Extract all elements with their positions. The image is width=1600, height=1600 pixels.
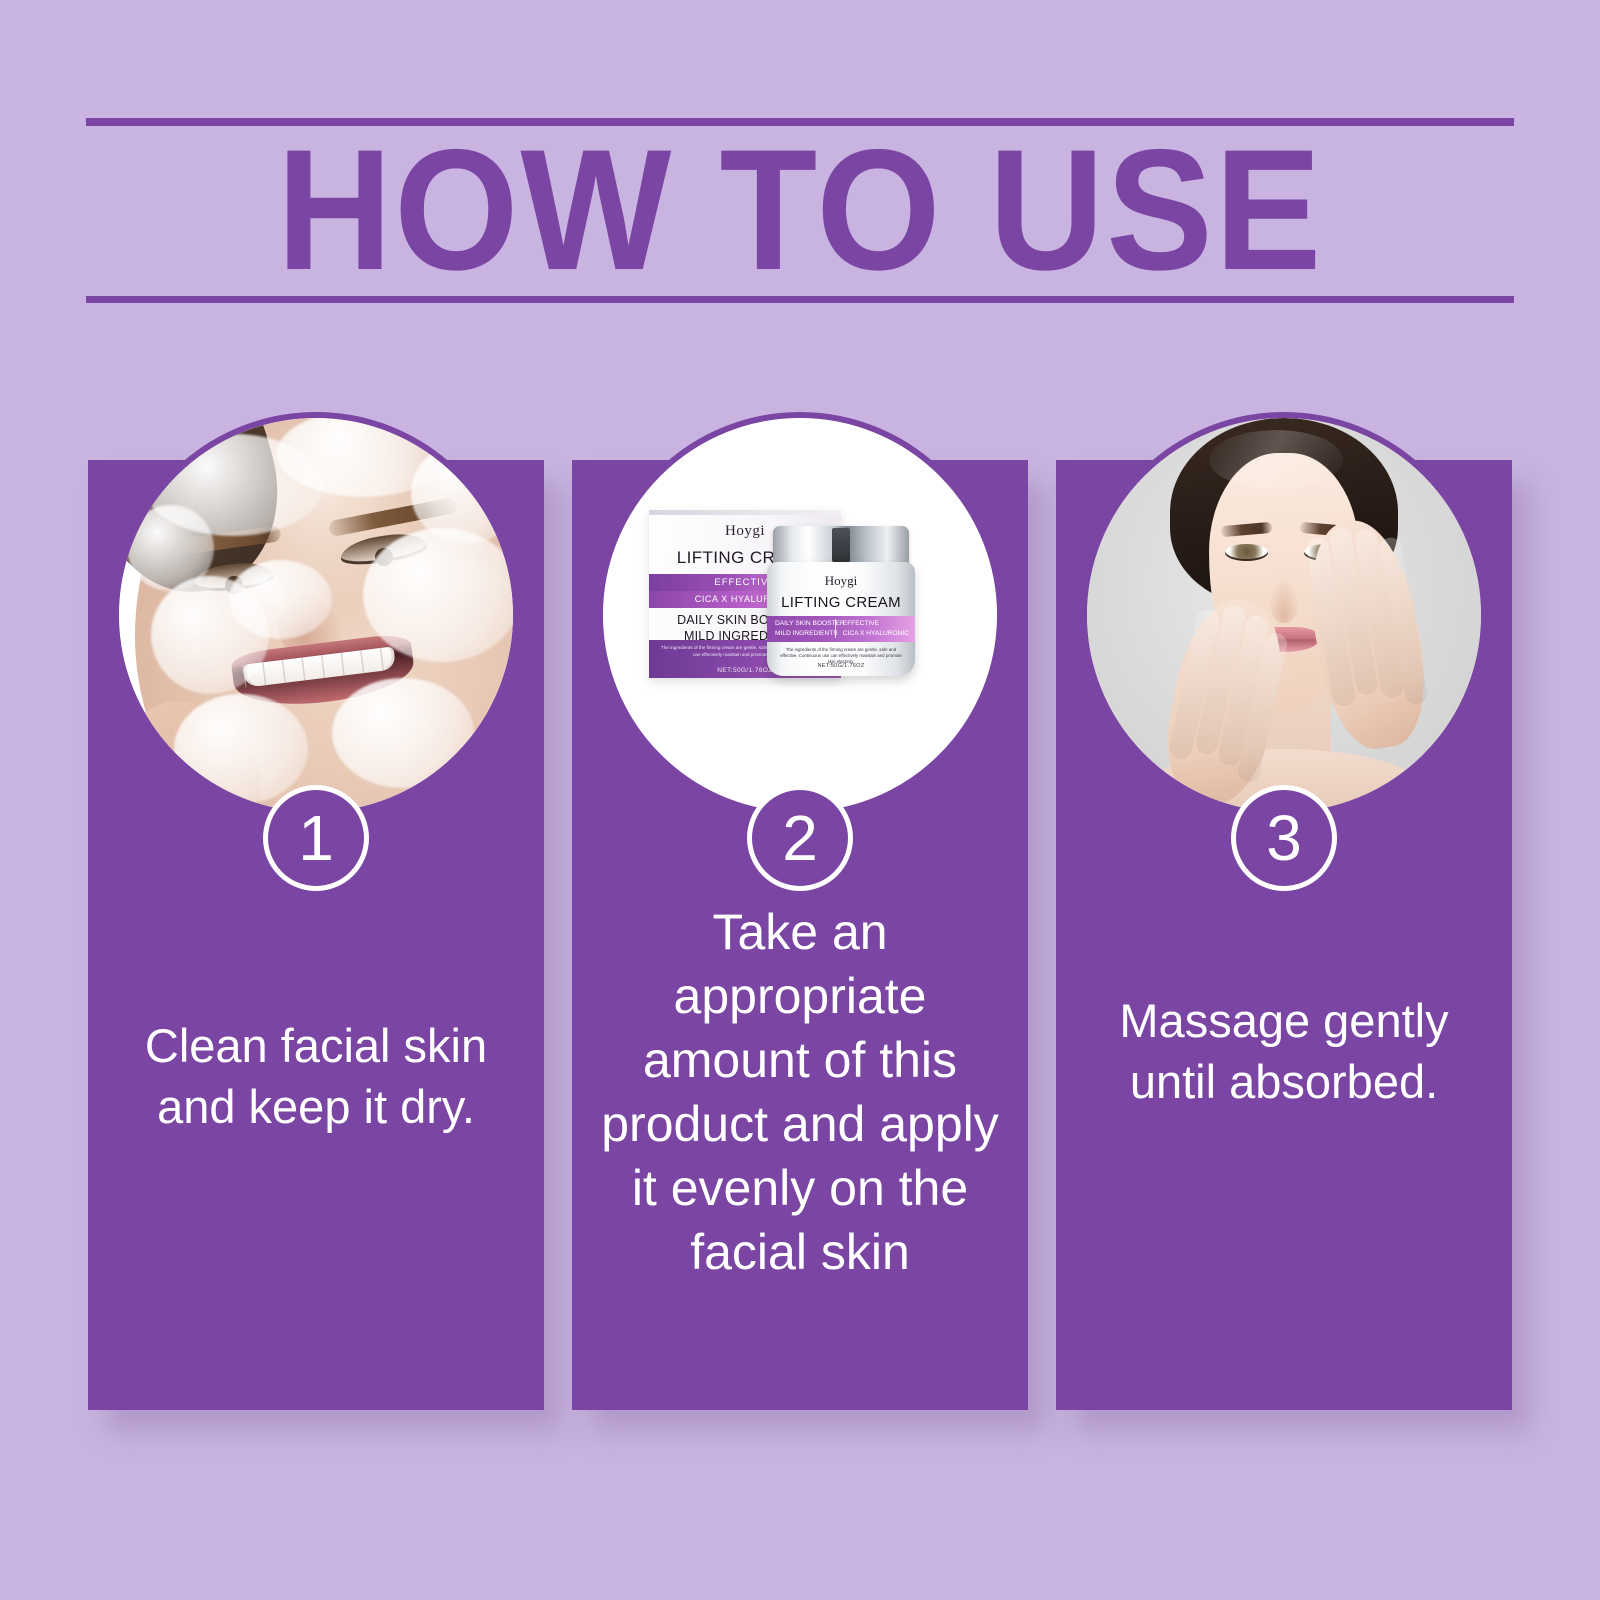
photo-product-shot: Hoygi LIFTING CREAM EFFECTIVE CICA X HYA…: [603, 418, 997, 812]
jar-body: Hoygi LIFTING CREAM DAILY SKIN BOOSTER M…: [767, 562, 915, 676]
product-jar: Hoygi LIFTING CREAM DAILY SKIN BOOSTER M…: [767, 526, 915, 676]
jar-product-name: LIFTING CREAM: [767, 594, 915, 611]
step-2-photo-frame: Hoygi LIFTING CREAM EFFECTIVE CICA X HYA…: [597, 412, 1003, 818]
jar-band-right-text: EFFECTIVE CICA X HYALURONIC: [835, 619, 909, 638]
step-caption-3: Massage gently until absorbed.: [1078, 990, 1490, 1112]
jar-net-weight: NET:50G/1.76OZ: [767, 663, 915, 669]
step-3-photo-frame: [1081, 412, 1487, 818]
step-number-badge-2: 2: [747, 785, 853, 891]
step-caption-1: Clean facial skin and keep it dry.: [110, 1015, 522, 1137]
jar-purple-band: DAILY SKIN BOOSTER MILD INGREDIENTS EFFE…: [767, 616, 915, 642]
jar-lid: [773, 526, 909, 566]
step-card-2: Hoygi LIFTING CREAM EFFECTIVE CICA X HYA…: [572, 460, 1028, 1410]
step-number-badge-3: 3: [1231, 785, 1337, 891]
steps-container: 1 Clean facial skin and keep it dry. Hoy…: [0, 0, 1600, 1600]
step-card-1: 1 Clean facial skin and keep it dry.: [88, 460, 544, 1410]
photo-washing-face: [119, 418, 513, 812]
jar-lid-notch: [832, 528, 850, 562]
step-caption-2: Take an appropriate amount of this produ…: [594, 900, 1006, 1284]
step-1-photo-frame: [113, 412, 519, 818]
jar-brand: Hoygi: [767, 573, 915, 589]
step-number-badge-1: 1: [263, 785, 369, 891]
step-card-3: 3 Massage gently until absorbed.: [1056, 460, 1512, 1410]
photo-touching-face: [1087, 418, 1481, 812]
